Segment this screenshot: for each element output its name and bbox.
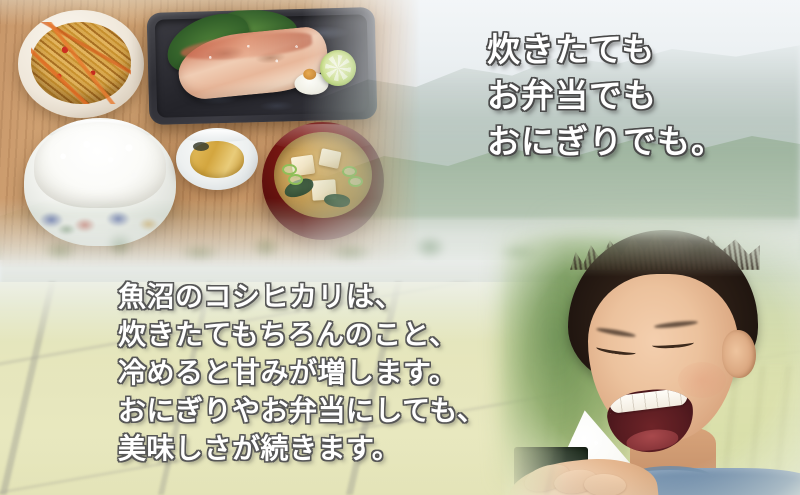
kinpira-gobo xyxy=(31,22,131,104)
green-onion-slice xyxy=(348,176,363,187)
bodycopy-text-block: 魚沼のコシヒカリは、 炊きたてもちろんのこと、 冷めると甘みが増します。 おにぎ… xyxy=(118,278,538,468)
boy-eating-onigiri-photo xyxy=(500,222,800,495)
bodycopy-line-2: 炊きたてもちろんのこと、 xyxy=(118,316,538,354)
kinpira-carrot-strips xyxy=(31,22,131,104)
boy-ear xyxy=(722,330,756,378)
grilled-fish-plate xyxy=(147,7,378,125)
bodycopy-line-4: おにぎりやお弁当にしても、 xyxy=(118,392,538,430)
headline-line-1: 炊きたても xyxy=(487,27,787,73)
green-onion-slice xyxy=(288,174,303,185)
headline-line-3: おにぎりでも。 xyxy=(487,119,787,165)
kinpira-gobo-bowl xyxy=(18,10,144,118)
rice-promo-banner: 炊きたても お弁当でも おにぎりでも。 魚沼のコシヒカリは、 炊きたてもちろんの… xyxy=(0,0,800,495)
rice-bowl xyxy=(24,118,176,246)
pickles-dish xyxy=(176,128,258,190)
rice-bowl-pattern xyxy=(24,198,176,242)
tsukemono-pickles xyxy=(190,141,244,178)
bodycopy-line-3: 冷めると甘みが増します。 xyxy=(118,354,538,392)
bodycopy-line-5: 美味しさが続きます。 xyxy=(118,430,538,468)
bodycopy-line-1: 魚沼のコシヒカリは、 xyxy=(118,278,538,316)
headline-text-block: 炊きたても お弁当でも おにぎりでも。 xyxy=(487,27,787,165)
headline-line-2: お弁当でも xyxy=(487,73,787,119)
food-photo xyxy=(0,0,420,268)
soup-bowl-rim xyxy=(264,124,382,150)
miso-soup-bowl xyxy=(262,122,384,240)
cooked-white-rice xyxy=(34,122,166,208)
